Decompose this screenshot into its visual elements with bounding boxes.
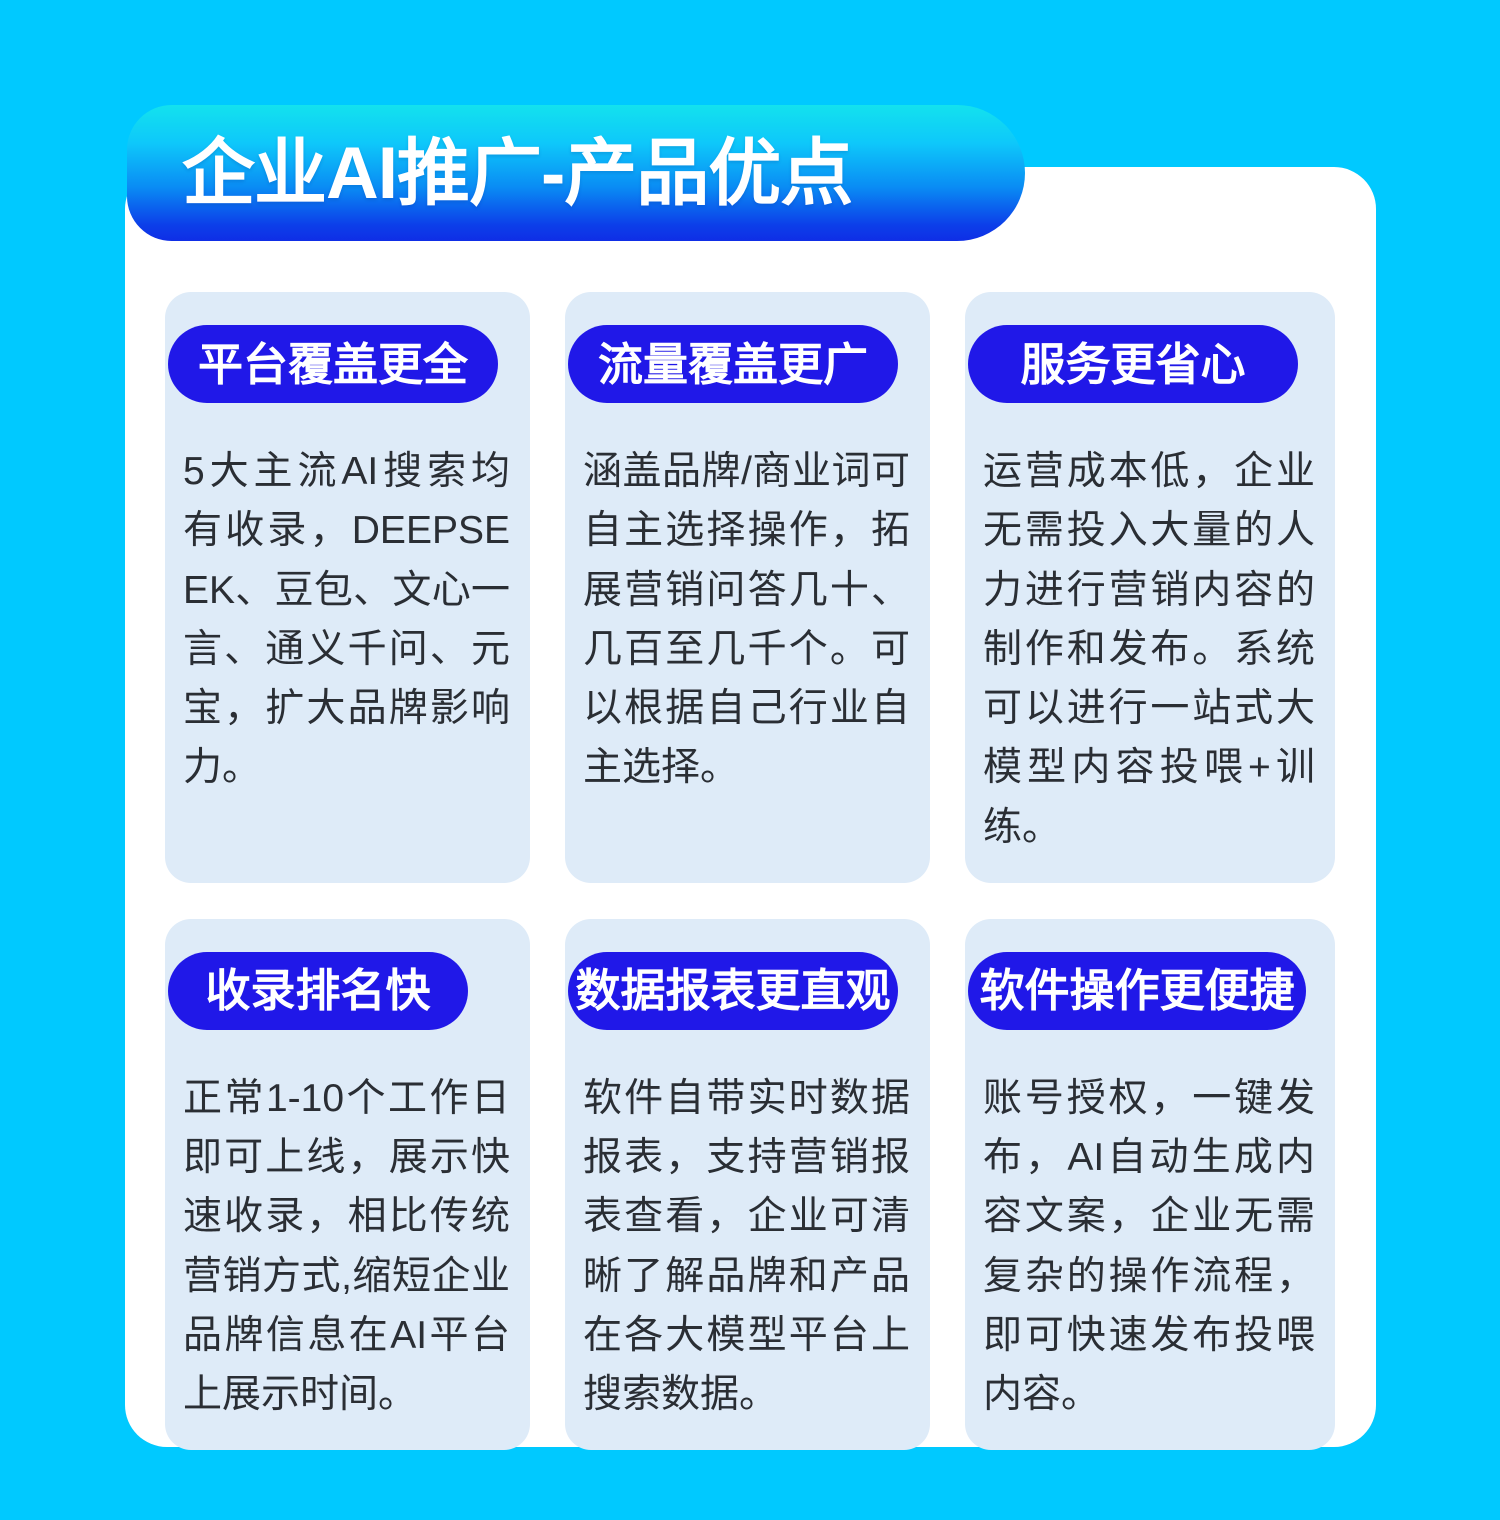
card-badge: 流量覆盖更广: [568, 325, 898, 403]
card-body-text: 涵盖品牌/商业词可自主选择操作，拓展营销问答几十、几百至几千个。可以根据自己行业…: [583, 442, 910, 798]
card-badge: 软件操作更便捷: [968, 952, 1306, 1030]
feature-card: 流量覆盖更广 涵盖品牌/商业词可自主选择操作，拓展营销问答几十、几百至几千个。可…: [565, 292, 930, 883]
card-badge-label: 服务更省心: [1020, 342, 1245, 387]
card-body-text: 5大主流AI搜索均有收录，DEEPSEEK、豆包、文心一言、通义千问、元宝，扩大…: [183, 442, 510, 798]
card-body-text: 软件自带实时数据报表，支持营销报表查看，企业可清晰了解品牌和产品在各大模型平台上…: [583, 1069, 910, 1425]
title-banner: 企业AI推广-产品优点: [127, 105, 1025, 241]
page-title: 企业AI推广-产品优点: [182, 137, 852, 210]
card-badge-label: 平台覆盖更全: [198, 342, 468, 387]
card-badge: 收录排名快: [168, 952, 468, 1030]
card-body-text: 正常1-10个工作日即可上线，展示快速收录，相比传统营销方式,缩短企业品牌信息在…: [183, 1069, 510, 1425]
card-badge-label: 收录排名快: [205, 968, 430, 1013]
card-badge: 服务更省心: [968, 325, 1298, 403]
card-badge: 数据报表更直观: [568, 952, 898, 1030]
feature-card-grid: 平台覆盖更全 5大主流AI搜索均有收录，DEEPSEEK、豆包、文心一言、通义千…: [165, 292, 1335, 1450]
card-badge-label: 流量覆盖更广: [598, 342, 868, 387]
card-body-text: 账号授权，一键发布，AI自动生成内容文案，企业无需复杂的操作流程，即可快速发布投…: [983, 1069, 1315, 1425]
feature-card: 服务更省心 运营成本低，企业无需投入大量的人力进行营销内容的制作和发布。系统可以…: [965, 292, 1335, 883]
feature-card: 软件操作更便捷 账号授权，一键发布，AI自动生成内容文案，企业无需复杂的操作流程…: [965, 919, 1335, 1451]
card-badge-label: 软件操作更便捷: [980, 968, 1295, 1013]
feature-card: 收录排名快 正常1-10个工作日即可上线，展示快速收录，相比传统营销方式,缩短企…: [165, 919, 530, 1451]
feature-card: 平台覆盖更全 5大主流AI搜索均有收录，DEEPSEEK、豆包、文心一言、通义千…: [165, 292, 530, 883]
card-badge-label: 数据报表更直观: [576, 968, 891, 1013]
card-badge: 平台覆盖更全: [168, 325, 498, 403]
card-body-text: 运营成本低，企业无需投入大量的人力进行营销内容的制作和发布。系统可以进行一站式大…: [983, 442, 1315, 857]
feature-card: 数据报表更直观 软件自带实时数据报表，支持营销报表查看，企业可清晰了解品牌和产品…: [565, 919, 930, 1451]
